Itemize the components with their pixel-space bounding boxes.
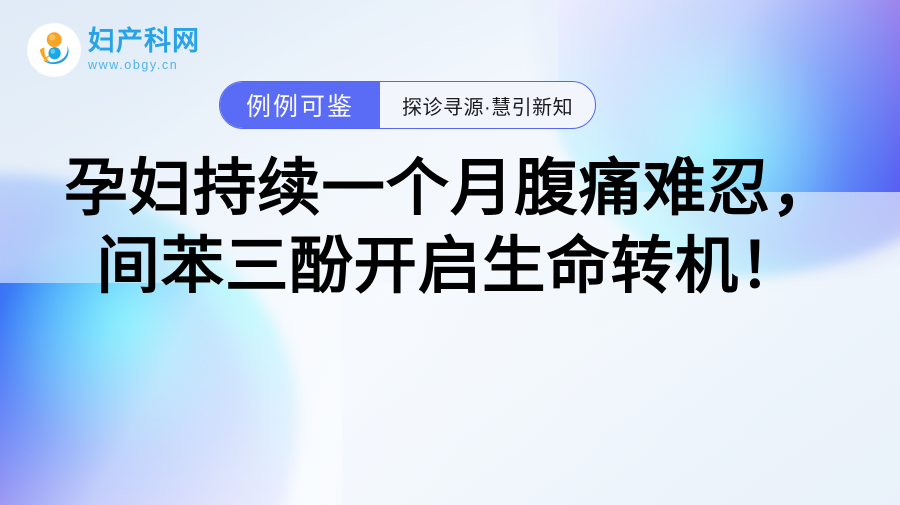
page-title-line-2: 间苯三酚开启生命转机！ [0, 228, 900, 306]
column-badge-subtitle: 探诊寻源·慧引新知 [380, 82, 595, 128]
column-badge-title: 例例可鉴 [220, 82, 380, 128]
brand-logo-text: 妇产科网 www.obgy.cn [88, 28, 200, 72]
page-title: 孕妇持续一个月腹痛难忍， 间苯三酚开启生命转机！ [0, 150, 900, 306]
brand-name-cn: 妇产科网 [88, 28, 200, 55]
column-badge[interactable]: 例例可鉴 探诊寻源·慧引新知 [219, 81, 596, 129]
brand-logo[interactable]: 妇产科网 www.obgy.cn [28, 24, 200, 76]
brand-url: www.obgy.cn [88, 59, 200, 72]
poster-canvas: 妇产科网 www.obgy.cn 例例可鉴 探诊寻源·慧引新知 孕妇持续一个月腹… [0, 0, 900, 505]
page-title-line-1: 孕妇持续一个月腹痛难忍， [0, 150, 900, 228]
obgy-logo-mark-icon [28, 24, 80, 76]
poster-content: 妇产科网 www.obgy.cn 例例可鉴 探诊寻源·慧引新知 孕妇持续一个月腹… [0, 0, 900, 505]
